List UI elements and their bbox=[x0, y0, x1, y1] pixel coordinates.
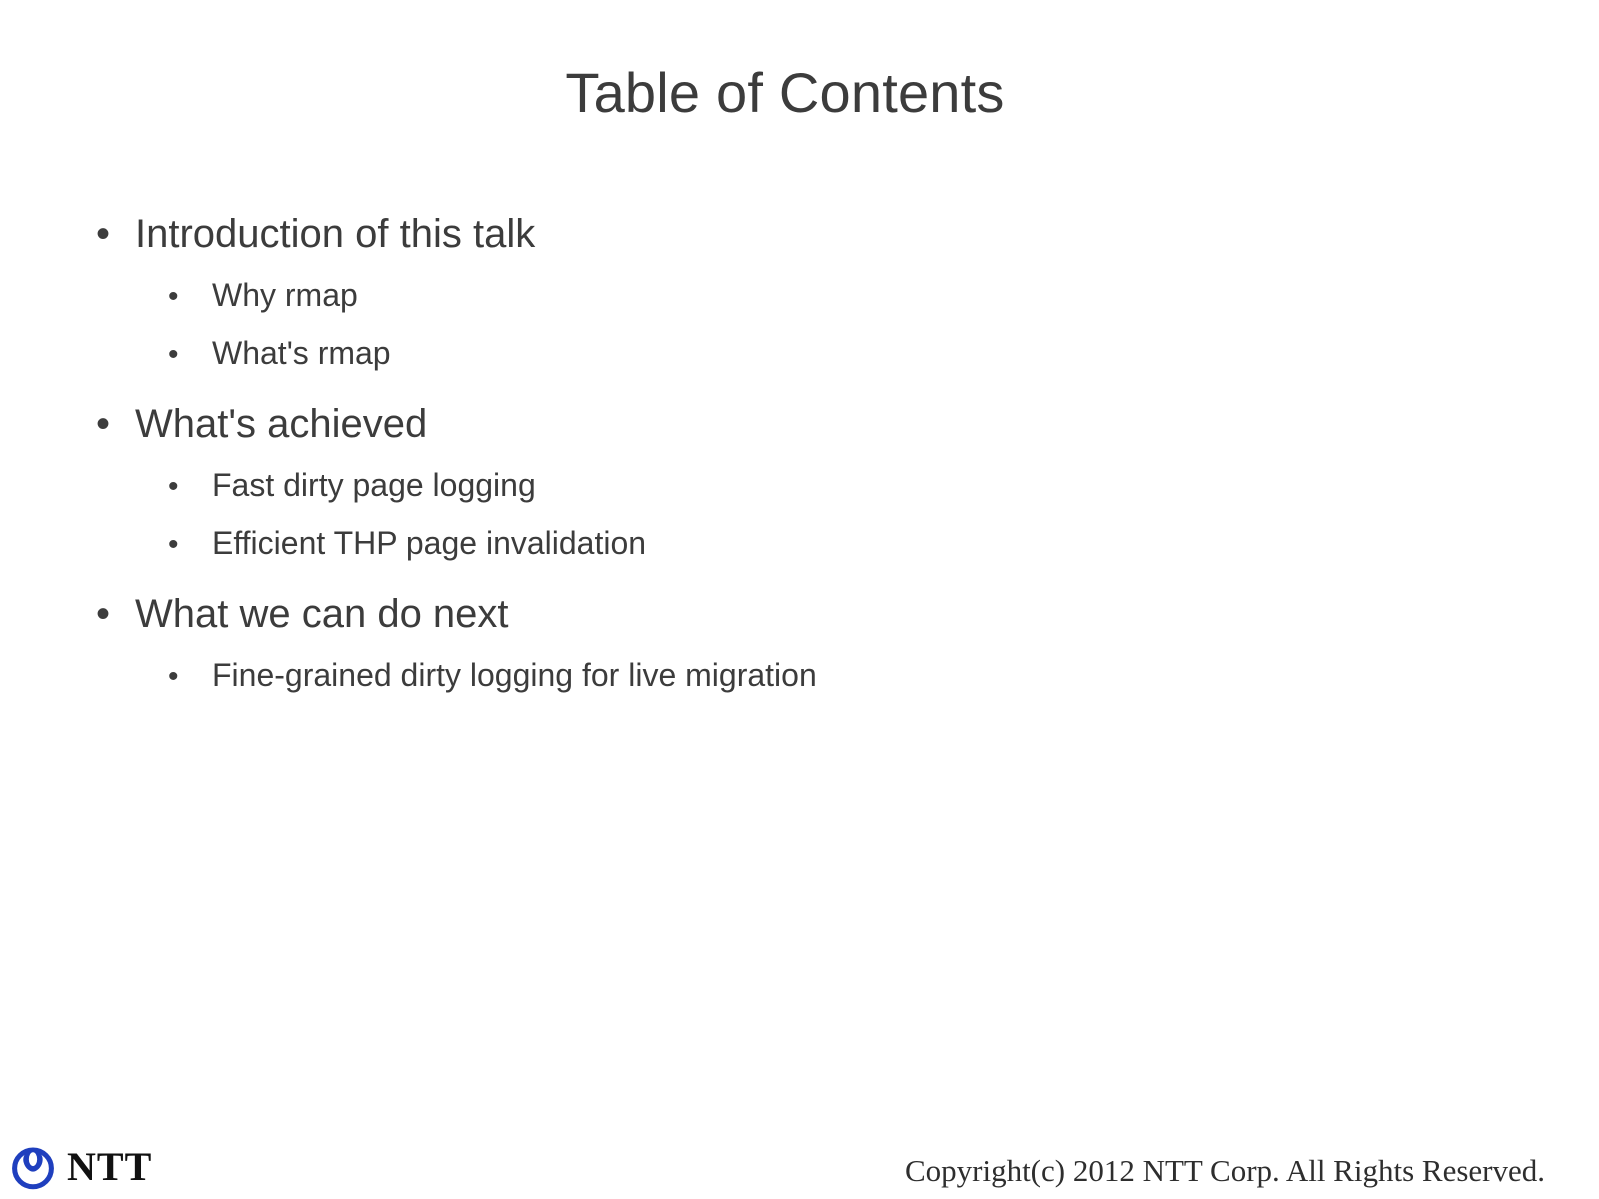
toc-group: • What we can do next • Fine-grained dir… bbox=[88, 585, 1508, 703]
bullet-icon: • bbox=[158, 650, 212, 703]
toc-subitem-label: Efficient THP page invalidation bbox=[212, 517, 646, 570]
toc-item-level1[interactable]: • What's achieved bbox=[88, 395, 1508, 453]
presentation-slide: Table of Contents • Introduction of this… bbox=[0, 0, 1599, 1199]
toc-subitem-label: What's rmap bbox=[212, 327, 391, 380]
toc-item-level1[interactable]: • Introduction of this talk bbox=[88, 205, 1508, 263]
toc-group: • Introduction of this talk • Why rmap •… bbox=[88, 205, 1508, 381]
toc-subitem-label: Fine-grained dirty logging for live migr… bbox=[212, 649, 817, 702]
toc-item-level2[interactable]: • Efficient THP page invalidation bbox=[158, 517, 1508, 571]
copyright-text: Copyright(c) 2012 NTT Corp. All Rights R… bbox=[905, 1153, 1545, 1189]
toc-item-level2[interactable]: • Fine-grained dirty logging for live mi… bbox=[158, 649, 1508, 703]
ntt-circle-mark-icon bbox=[10, 1144, 56, 1190]
toc-item-level1[interactable]: • What we can do next bbox=[88, 585, 1508, 643]
toc-item-label: Introduction of this talk bbox=[135, 205, 535, 263]
bullet-icon: • bbox=[158, 328, 212, 381]
toc-subgroup: • Fine-grained dirty logging for live mi… bbox=[88, 649, 1508, 703]
toc-item-level2[interactable]: • Fast dirty page logging bbox=[158, 459, 1508, 513]
page-title: Table of Contents bbox=[0, 62, 1570, 124]
bullet-icon: • bbox=[158, 460, 212, 513]
bullet-icon: • bbox=[88, 585, 135, 643]
ntt-wordmark: NTT bbox=[67, 1147, 152, 1187]
toc-item-label: What we can do next bbox=[135, 585, 509, 643]
ntt-loop-hole bbox=[29, 1152, 37, 1166]
ntt-logo: NTT bbox=[10, 1143, 152, 1191]
bullet-icon: • bbox=[88, 205, 135, 263]
table-of-contents-list: • Introduction of this talk • Why rmap •… bbox=[88, 205, 1508, 715]
toc-item-level2[interactable]: • Why rmap bbox=[158, 269, 1508, 323]
bullet-icon: • bbox=[88, 395, 135, 453]
bullet-icon: • bbox=[158, 518, 212, 571]
toc-item-level2[interactable]: • What's rmap bbox=[158, 327, 1508, 381]
toc-group: • What's achieved • Fast dirty page logg… bbox=[88, 395, 1508, 571]
toc-subgroup: • Why rmap • What's rmap bbox=[88, 269, 1508, 381]
toc-subitem-label: Why rmap bbox=[212, 269, 358, 322]
bullet-icon: • bbox=[158, 270, 212, 323]
toc-item-label: What's achieved bbox=[135, 395, 427, 453]
toc-subitem-label: Fast dirty page logging bbox=[212, 459, 536, 512]
toc-subgroup: • Fast dirty page logging • Efficient TH… bbox=[88, 459, 1508, 571]
